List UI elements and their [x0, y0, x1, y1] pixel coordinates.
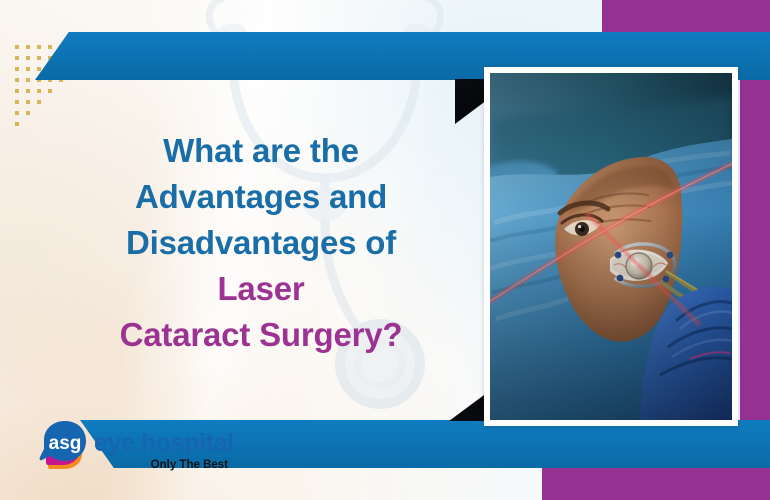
logo-tagline: Only The Best: [151, 459, 228, 471]
asg-eye-hospital-logo[interactable]: asg eye hospital Only The Best: [38, 418, 238, 474]
surgery-photo-frame: [484, 67, 738, 426]
blog-banner: What are the Advantages and Disadvantage…: [0, 0, 770, 500]
logo-wordmark: eye hospital: [94, 429, 234, 457]
surgery-photo: [490, 73, 732, 420]
headline-line-5: Cataract Surgery?: [56, 312, 466, 358]
headline-line-2: Advantages and: [56, 174, 466, 220]
logo-mark-text: asg: [49, 433, 82, 454]
headline-line-1: What are the: [56, 128, 466, 174]
purple-top-block: [602, 0, 740, 34]
purple-bottom-block: [542, 466, 740, 500]
page-title: What are the Advantages and Disadvantage…: [56, 128, 466, 358]
headline-line-4: Laser: [56, 266, 466, 312]
headline-line-3: Disadvantages of: [56, 220, 466, 266]
